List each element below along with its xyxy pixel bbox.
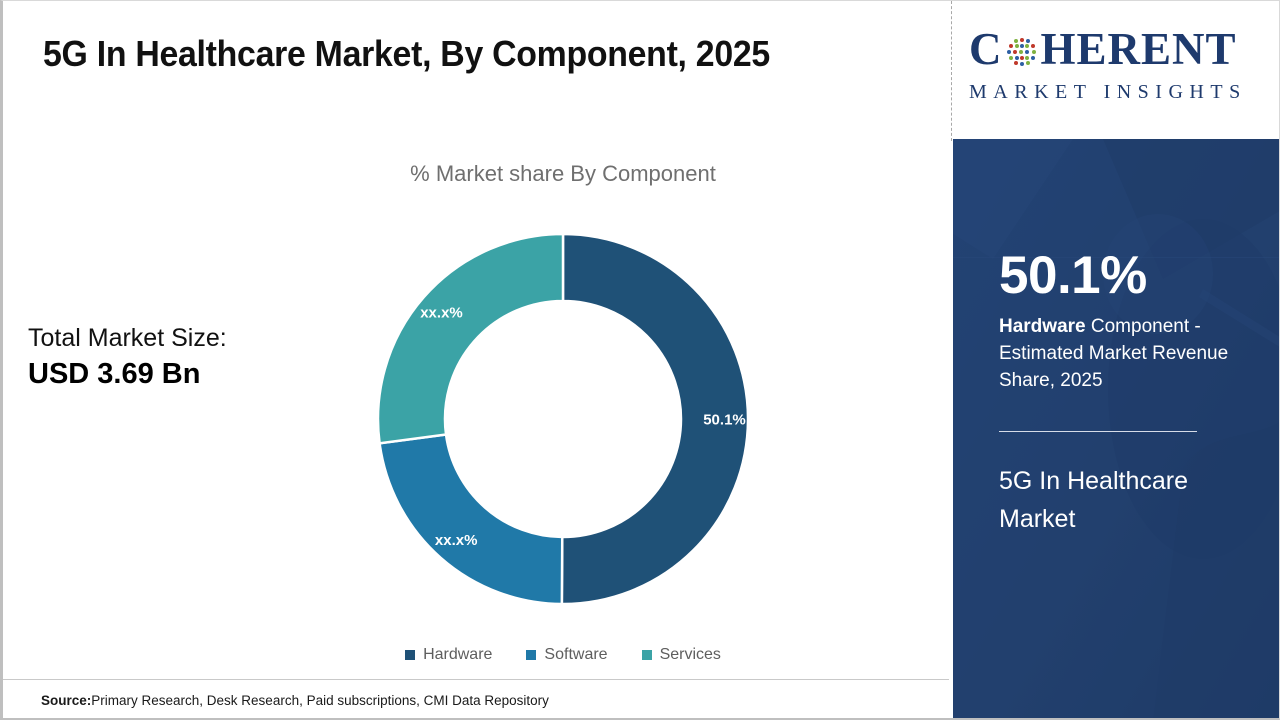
total-market-size-block: Total Market Size: USD 3.69 Bn xyxy=(28,323,328,393)
brand-logo-panel: C xyxy=(953,1,1280,139)
donut-chart: 50.1% xx.x% xx.x% xyxy=(378,234,748,604)
slice-label-services: xx.x% xyxy=(420,305,463,322)
legend-label: Hardware xyxy=(423,646,492,664)
brand-tagline: MARKET INSIGHTS xyxy=(969,81,1269,104)
sidebar-description: Hardware Component - Estimated Market Re… xyxy=(999,314,1249,395)
sidebar-market-name: 5G In Healthcare Market xyxy=(999,462,1249,538)
legend-item-services[interactable]: Services xyxy=(642,646,721,664)
chart-subtitle: % Market share By Component xyxy=(263,161,863,187)
legend-item-software[interactable]: Software xyxy=(526,646,607,664)
donut-slice-group xyxy=(378,234,748,604)
legend-label: Software xyxy=(544,646,607,664)
sidebar-percent: 50.1% xyxy=(999,249,1249,302)
highlight-sidebar: 50.1% Hardware Component - Estimated Mar… xyxy=(953,139,1280,720)
total-market-size-label: Total Market Size: xyxy=(28,323,328,354)
sidebar-divider xyxy=(999,431,1197,432)
chart-legend: HardwareSoftwareServices xyxy=(263,646,863,664)
sidebar-content: 50.1% Hardware Component - Estimated Mar… xyxy=(999,249,1249,538)
donut-slice-services xyxy=(378,234,563,443)
vertical-dashed-divider xyxy=(951,1,952,141)
legend-label: Services xyxy=(660,646,721,664)
brand-letter-c: C xyxy=(969,27,1003,72)
legend-item-hardware[interactable]: Hardware xyxy=(405,646,492,664)
legend-swatch-icon xyxy=(642,650,652,660)
brand-wordmark-rest: HERENT xyxy=(1041,27,1237,72)
page-title: 5G In Healthcare Market, By Component, 2… xyxy=(43,33,870,75)
brand-wordmark: C xyxy=(969,23,1269,75)
donut-slice-software xyxy=(380,435,563,604)
source-text: Primary Research, Desk Research, Paid su… xyxy=(91,693,549,708)
donut-chart-svg: 50.1% xx.x% xx.x% xyxy=(378,234,748,604)
source-divider xyxy=(3,679,949,680)
globe-icon xyxy=(1004,33,1040,69)
total-market-size-value: USD 3.69 Bn xyxy=(28,356,328,392)
brand-logo: C xyxy=(969,23,1269,104)
source-line: Source:Primary Research, Desk Research, … xyxy=(41,693,549,708)
slice-label-software: xx.x% xyxy=(435,532,478,549)
slice-label-hardware: 50.1% xyxy=(703,412,746,429)
legend-swatch-icon xyxy=(526,650,536,660)
infographic-page: 5G In Healthcare Market, By Component, 2… xyxy=(0,0,1280,720)
sidebar-highlight-term: Hardware xyxy=(999,316,1086,337)
source-label: Source: xyxy=(41,693,91,708)
legend-swatch-icon xyxy=(405,650,415,660)
